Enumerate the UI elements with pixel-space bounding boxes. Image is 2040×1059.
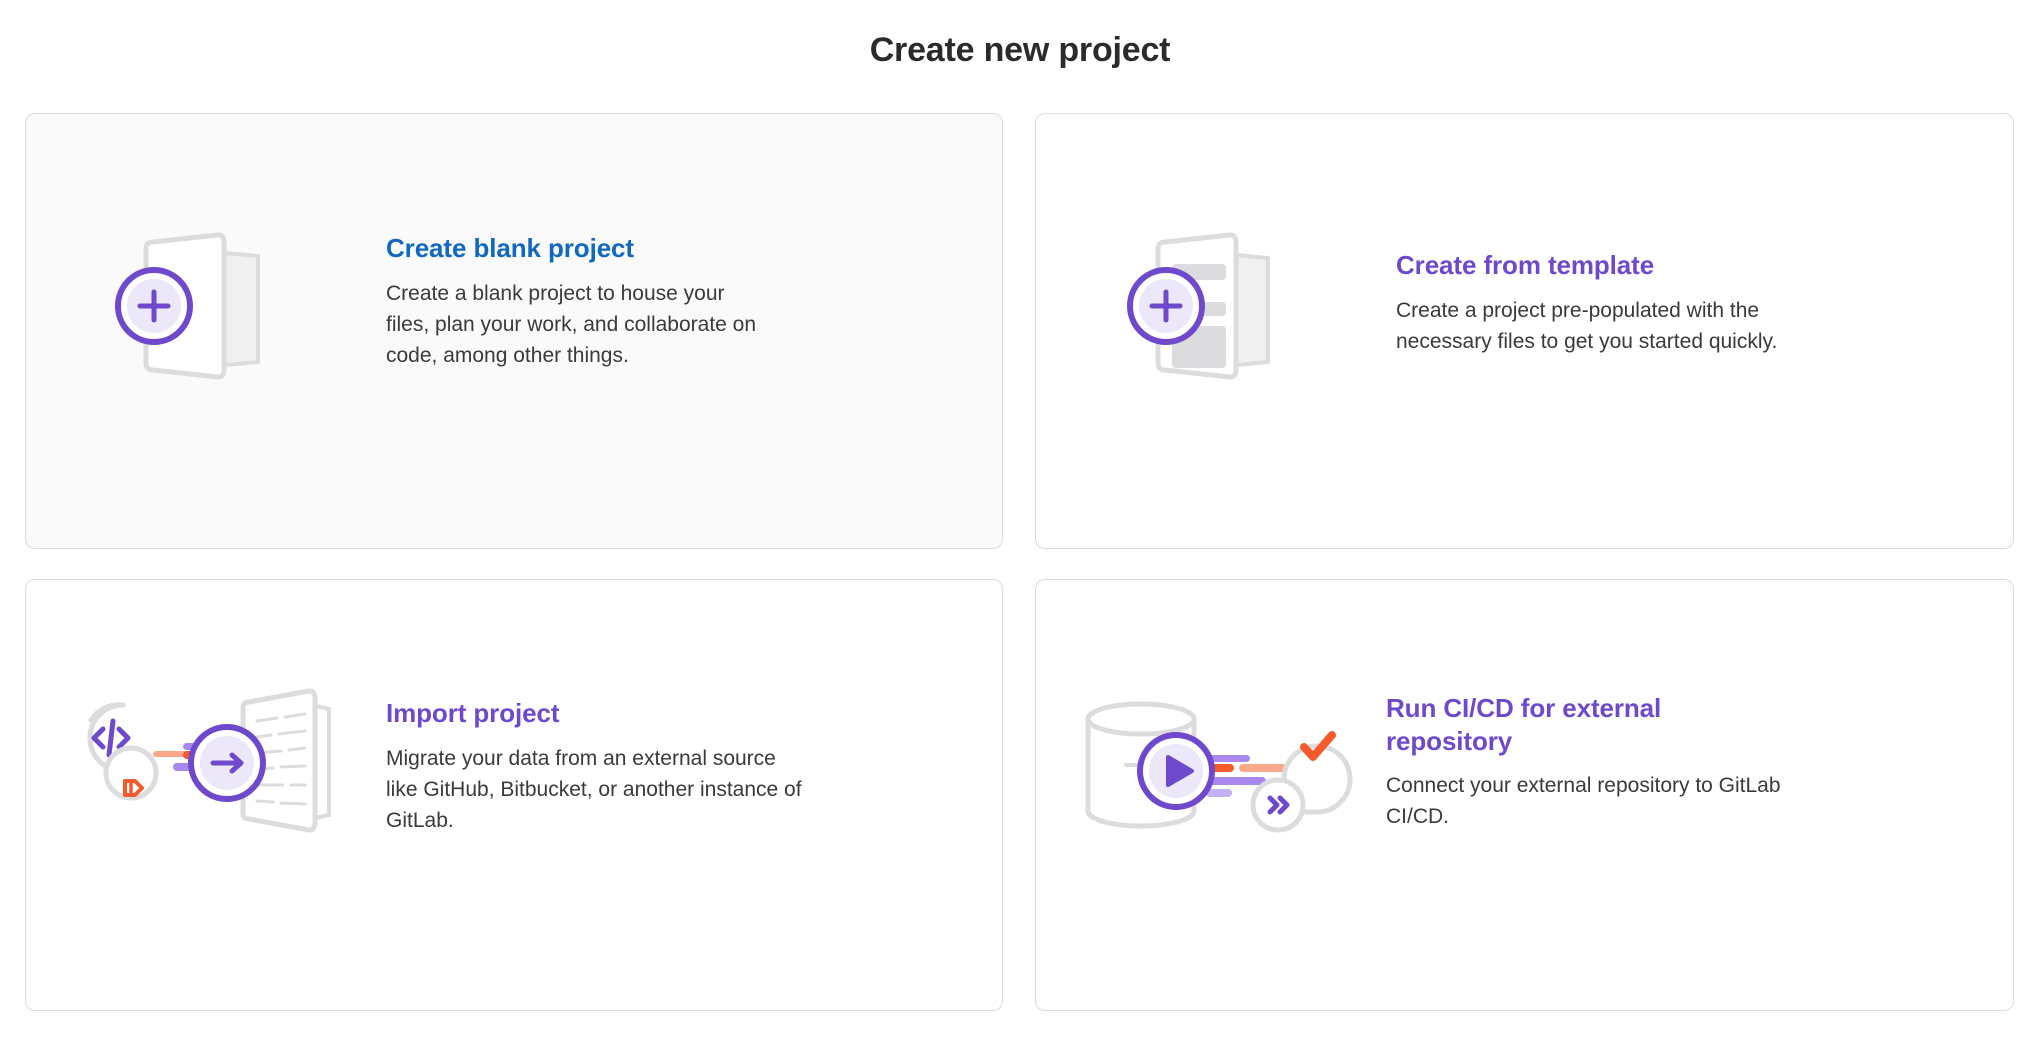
card-description: Create a project pre-populated with the … (1396, 295, 1811, 357)
project-type-card-grid: Create blank project Create a blank proj… (25, 113, 2015, 1011)
card-description: Create a blank project to house your fil… (386, 278, 771, 371)
card-body: Run CI/CD for external repository Connec… (1386, 580, 2013, 832)
card-body: Import project Migrate your data from an… (386, 580, 1002, 836)
blank-project-illustration (26, 114, 386, 387)
card-description: Connect your external repository to GitL… (1386, 770, 1826, 832)
template-icon (1116, 222, 1316, 387)
blank-project-icon (106, 222, 306, 387)
card-title: Create from template (1396, 249, 1823, 282)
card-description: Migrate your data from an external sourc… (386, 743, 806, 836)
import-icon (61, 675, 351, 845)
template-illustration (1036, 114, 1396, 387)
page-title: Create new project (25, 0, 2015, 72)
card-import-project[interactable]: Import project Migrate your data from an… (25, 579, 1003, 1011)
card-create-from-template[interactable]: Create from template Create a project pr… (1035, 113, 2014, 549)
card-run-cicd-external-repository[interactable]: Run CI/CD for external repository Connec… (1035, 579, 2014, 1011)
card-title: Create blank project (386, 232, 802, 265)
create-new-project-page: Create new project Create blank project … (0, 0, 2040, 1059)
card-create-blank-project[interactable]: Create blank project Create a blank proj… (25, 113, 1003, 549)
import-illustration (26, 580, 386, 845)
cicd-illustration (1036, 580, 1386, 845)
card-body: Create blank project Create a blank proj… (386, 114, 1002, 371)
card-title: Run CI/CD for external repository (1386, 692, 1786, 757)
orange-tag-icon (125, 781, 142, 795)
card-body: Create from template Create a project pr… (1396, 114, 2013, 357)
cicd-icon (1066, 675, 1356, 845)
card-title: Import project (386, 697, 892, 730)
